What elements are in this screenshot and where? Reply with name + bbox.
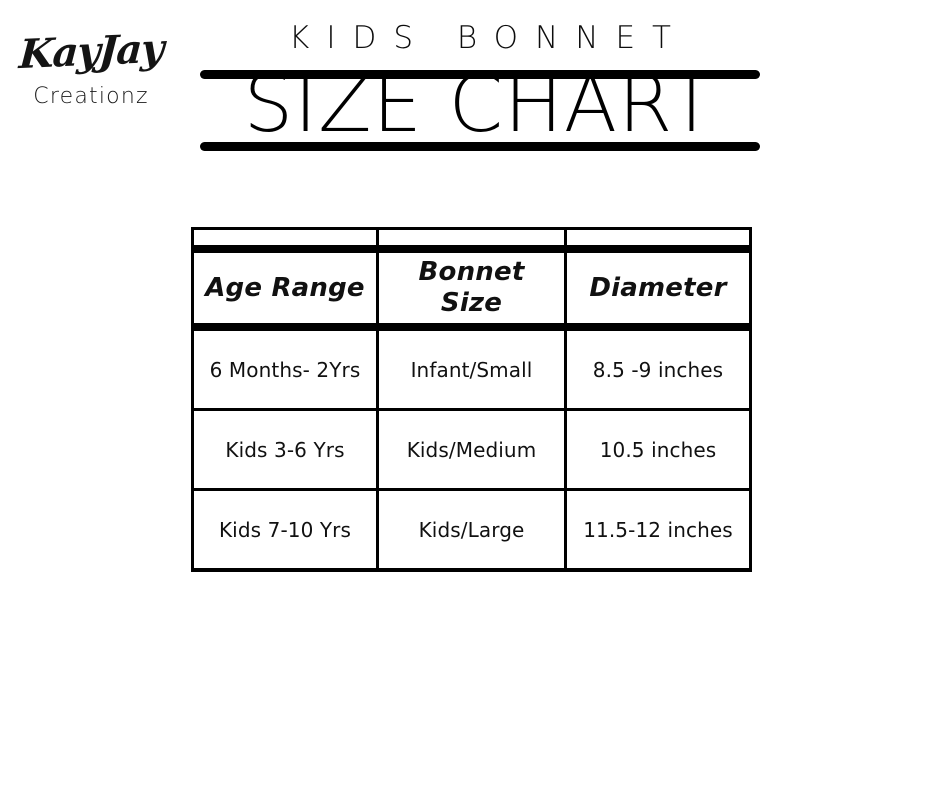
size-chart-table: Age Range Bonnet Size Diameter 6 Months-… [191, 227, 752, 572]
cell-diameter: 11.5-12 inches [566, 490, 751, 571]
cell-bonnet-size: Kids/Large [378, 490, 566, 571]
chart-header: KIDS BONNET SIZE CHART [0, 0, 940, 170]
title-rule-bottom [200, 142, 760, 151]
page-title: SIZE CHART [200, 60, 760, 150]
column-header-age-range: Age Range [193, 249, 378, 327]
table-header-row: Age Range Bonnet Size Diameter [193, 249, 751, 327]
table-row: Kids 3-6 Yrs Kids/Medium 10.5 inches [193, 410, 751, 490]
cell-diameter: 10.5 inches [566, 410, 751, 490]
strip-cell [378, 229, 566, 250]
column-header-bonnet-size-line2: Size [383, 288, 560, 319]
cell-diameter: 8.5 -9 inches [566, 327, 751, 410]
table-row: Kids 7-10 Yrs Kids/Large 11.5-12 inches [193, 490, 751, 571]
cell-age-range: Kids 7-10 Yrs [193, 490, 378, 571]
column-header-diameter: Diameter [566, 249, 751, 327]
column-header-bonnet-size: Bonnet Size [378, 249, 566, 327]
header-eyebrow: KIDS BONNET [200, 18, 760, 58]
cell-age-range: Kids 3-6 Yrs [193, 410, 378, 490]
cell-bonnet-size: Kids/Medium [378, 410, 566, 490]
strip-cell [566, 229, 751, 250]
table-row: 6 Months- 2Yrs Infant/Small 8.5 -9 inche… [193, 327, 751, 410]
table-top-strip [193, 229, 751, 250]
column-header-bonnet-size-line1: Bonnet [383, 257, 560, 288]
cell-bonnet-size: Infant/Small [378, 327, 566, 410]
strip-cell [193, 229, 378, 250]
cell-age-range: 6 Months- 2Yrs [193, 327, 378, 410]
